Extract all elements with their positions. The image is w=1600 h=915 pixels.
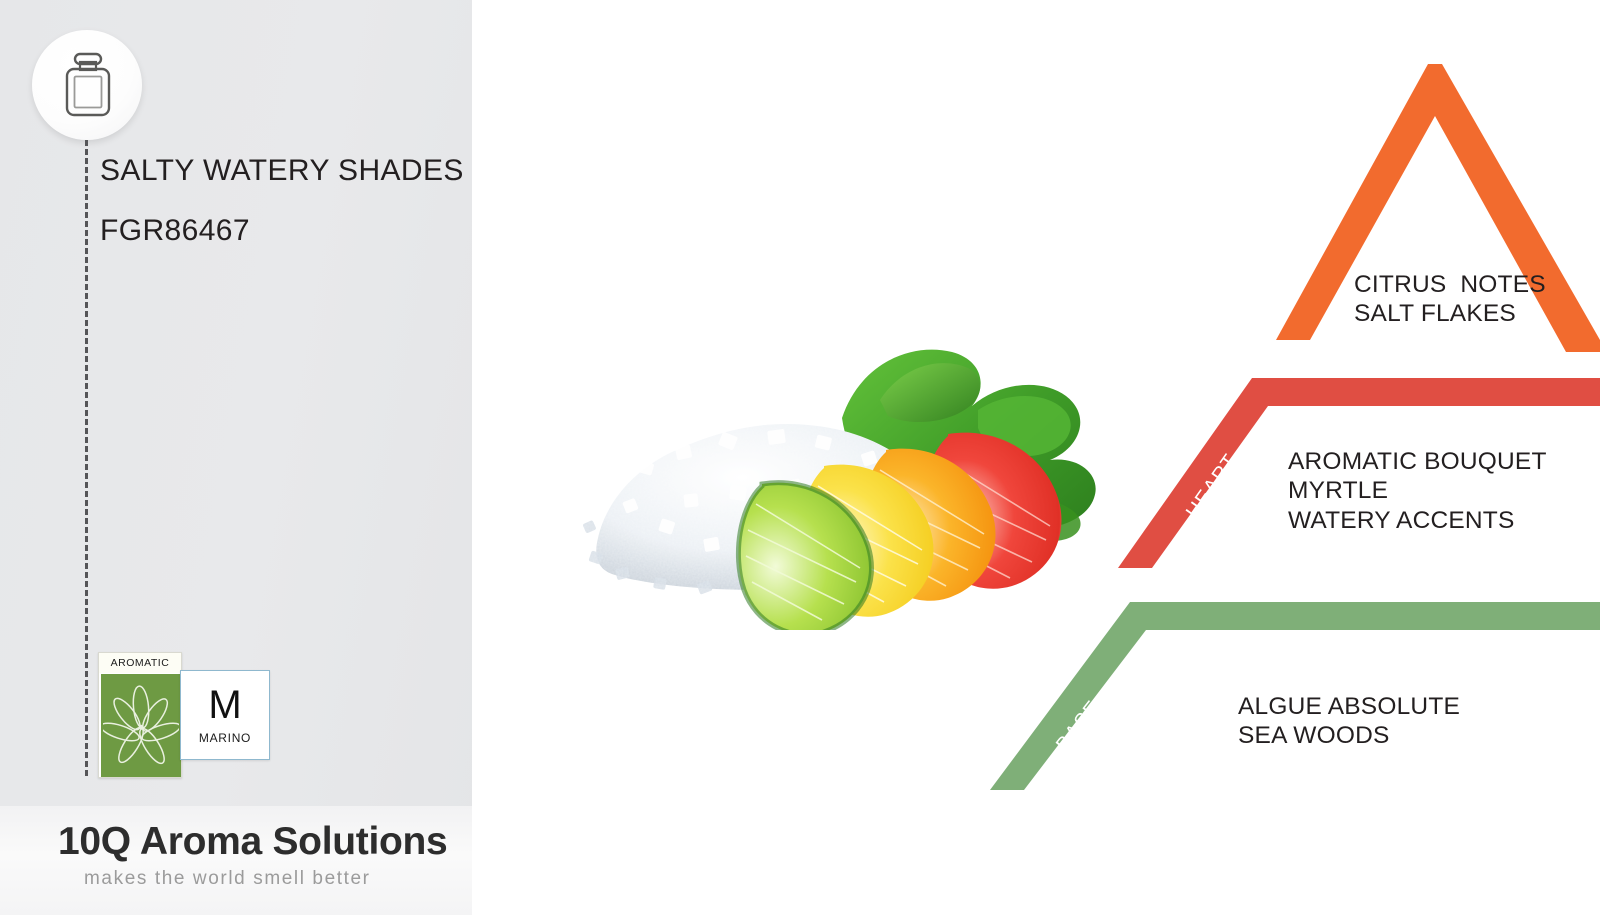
brand-tagline: makes the world smell better [84,868,447,890]
slide-canvas: SALTY WATERY SHADES FGR86467 AROMATIC M [0,0,1600,915]
herb-leaves-icon [101,674,181,777]
fragrance-family-badge[interactable]: AROMATIC M MARINO [98,652,298,778]
marino-letter: M [208,685,241,725]
marino-name: MARINO [199,731,251,745]
brand-footer: 10Q Aroma Solutions makes the world smel… [58,822,447,890]
title-block: SALTY WATERY SHADES FGR86467 [100,152,480,251]
aromatic-family-card[interactable]: AROMATIC [98,652,182,778]
marino-card[interactable]: M MARINO [180,670,270,760]
notes-heart: AROMATIC BOUQUET MYRTLE WATERY ACCENTS [1288,447,1547,535]
notes-head: CITRUS NOTES SALT FLAKES [1354,270,1546,329]
vertical-dashed-connector [85,140,88,776]
perfume-bottle-badge [32,30,142,140]
brand-name: 10Q Aroma Solutions [58,822,447,863]
notes-base: ALGUE ABSOLUTE SEA WOODS [1238,692,1460,751]
formula-code: FGR86467 [100,212,480,250]
page-title: SALTY WATERY SHADES [100,152,480,190]
aromatic-family-label: AROMATIC [99,653,181,673]
